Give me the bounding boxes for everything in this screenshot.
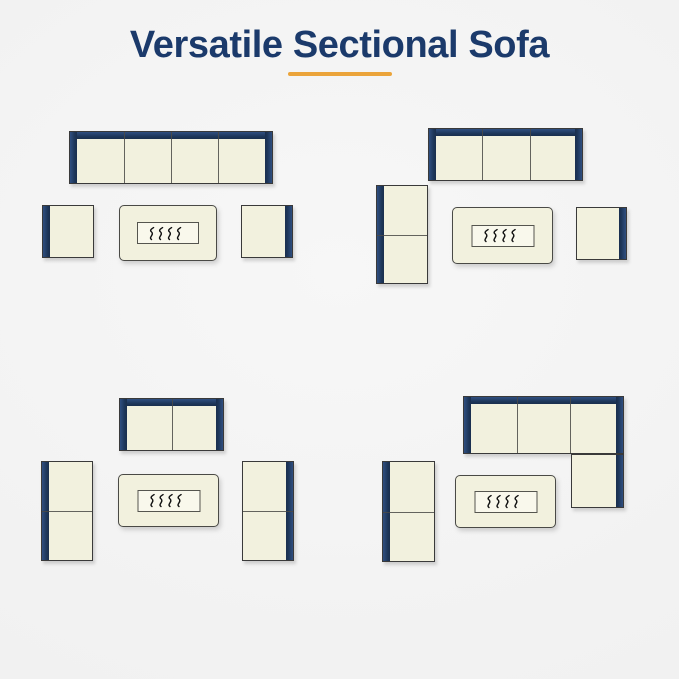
config4-fire-table[interactable]: fire pit table <box>455 475 556 528</box>
config3-fire-table-label: fire pit table <box>119 475 120 476</box>
flame-smoke-icon <box>137 490 200 512</box>
config2-right-chair[interactable]: armless chair <box>576 207 627 260</box>
backrest-left <box>43 206 50 257</box>
configuration-1[interactable]: straight-four-seat-layout 4-seat straigh… <box>0 0 340 340</box>
config2-left-module-2seat[interactable]: 2-seat vertical module <box>376 185 428 284</box>
backrest-right <box>619 208 626 259</box>
cushion-seam <box>171 132 172 183</box>
config4-sofa-3seat[interactable]: 3-seat sectional with corner return <box>463 396 624 454</box>
config3-fire-table[interactable]: fire pit table <box>118 474 219 527</box>
config2-fire-table-label: fire pit table <box>453 208 454 209</box>
config3-left-module-2seat[interactable]: 2-seat vertical module <box>41 461 93 561</box>
config3-right-module-label: 2-seat vertical module <box>243 462 244 463</box>
flame-smoke-icon <box>474 491 537 513</box>
config4-fire-table-label: fire pit table <box>456 476 457 477</box>
config2-right-chair-label: armless chair <box>577 208 578 209</box>
configuration-2-label: u-shaped-three-plus-two-layout <box>340 0 341 1</box>
cushion-seam <box>218 132 219 183</box>
config4-corner-return[interactable]: corner return seat <box>571 454 624 508</box>
backrest-top <box>429 129 582 136</box>
cushion-seam <box>517 397 518 453</box>
cushion-seam <box>243 511 293 512</box>
configuration-4[interactable]: l-shaped-corner-sectional-layout 3-seat … <box>340 340 679 679</box>
backrest-right <box>265 132 272 183</box>
config2-sofa-3seat[interactable]: 3-seat straight sofa <box>428 128 583 181</box>
cushion-seam <box>377 235 427 236</box>
backrest-left <box>429 129 436 180</box>
cushion-seam <box>482 129 483 180</box>
backrest-right <box>616 455 623 507</box>
configuration-1-label: straight-four-seat-layout <box>0 0 1 1</box>
config2-fire-table[interactable]: fire pit table <box>452 207 553 264</box>
config1-sofa-4seat[interactable]: 4-seat straight sofa <box>69 131 273 184</box>
sofa-configuration-diagram: straight-four-seat-layout 4-seat straigh… <box>0 0 679 679</box>
configuration-3[interactable]: symmetric-conversation-layout 2-seat lov… <box>0 340 340 679</box>
configuration-3-label: symmetric-conversation-layout <box>0 340 1 341</box>
cushion-seam <box>124 132 125 183</box>
backrest-left <box>120 399 127 450</box>
flame-smoke-icon <box>137 222 199 244</box>
config1-left-chair[interactable]: armless chair <box>42 205 94 258</box>
backrest-top <box>464 397 623 404</box>
config1-fire-table-label: fire pit table <box>120 206 121 207</box>
cushion-seam <box>383 512 434 513</box>
config1-fire-table[interactable]: fire pit table <box>119 205 217 261</box>
configuration-4-label: l-shaped-corner-sectional-layout <box>340 340 341 341</box>
backrest-right <box>616 397 623 453</box>
backrest-left <box>70 132 77 183</box>
backrest-right <box>575 129 582 180</box>
configuration-2[interactable]: u-shaped-three-plus-two-layout 3-seat st… <box>340 0 679 340</box>
cushion-seam <box>570 397 571 453</box>
config1-right-chair-label: armless chair <box>242 206 243 207</box>
config3-sofa-2seat[interactable]: 2-seat loveseat <box>119 398 224 451</box>
config4-left-module-2seat[interactable]: 2-seat vertical module <box>382 461 435 562</box>
config4-corner-return-label: corner return seat <box>572 455 573 456</box>
backrest-right <box>285 206 292 257</box>
config1-right-chair[interactable]: armless chair <box>241 205 293 258</box>
cushion-seam <box>42 511 92 512</box>
backrest-right <box>216 399 223 450</box>
cushion-seam <box>530 129 531 180</box>
backrest-left <box>464 397 471 453</box>
flame-smoke-icon <box>471 225 534 247</box>
config3-right-module-2seat[interactable]: 2-seat vertical module <box>242 461 294 561</box>
cushion-seam <box>172 399 173 450</box>
